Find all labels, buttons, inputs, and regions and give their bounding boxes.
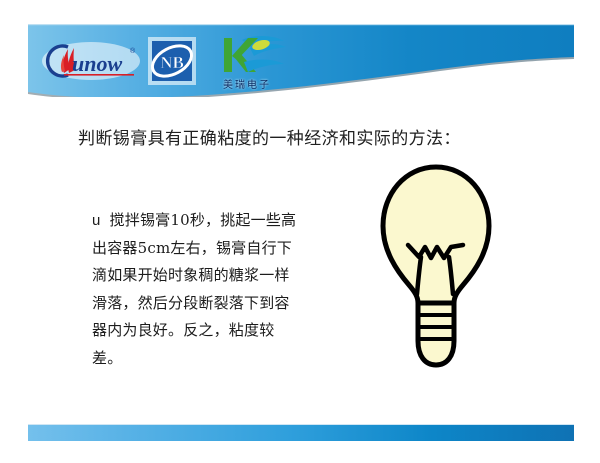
unow-logo: unow ® (42, 39, 140, 83)
unow-logo-graphic: unow ® (42, 39, 140, 83)
footer-bar (28, 424, 574, 441)
body-line: 出容器5cm左右，锡膏自行下 (92, 235, 344, 263)
body-line: 差。 (92, 345, 344, 373)
lightbulb-graphic (375, 163, 497, 381)
body-line: 器内为良好。反之，粘度较 (92, 317, 344, 345)
header-banner: unow ® NB (28, 24, 574, 97)
unow-wordmark: unow (72, 51, 122, 76)
nb-logo: NB (148, 37, 196, 85)
body-paragraph: u搅拌锡膏10秒，挑起一些高 出容器5cm左右，锡膏自行下 滴如果开始时象稠的糖… (92, 207, 344, 372)
body-line: 滑落，然后分段断裂落下到容 (92, 290, 344, 318)
meirui-logo-label: 美瑞电子 (204, 76, 290, 91)
meirui-logo-graphic (204, 32, 290, 78)
header-logo-row: unow ® NB (42, 28, 290, 94)
body-line-text: 搅拌锡膏10秒，挑起一些高 (110, 211, 297, 229)
bullet-marker: u (92, 212, 110, 229)
slide-canvas: unow ® NB (0, 0, 600, 463)
registered-mark-icon: ® (130, 47, 136, 55)
body-line: 滴如果开始时象稠的糖浆一样 (92, 262, 344, 290)
lightbulb-icon (375, 163, 497, 381)
meirui-logo: 美瑞电子 (204, 32, 290, 90)
nb-wordmark: NB (160, 53, 184, 72)
body-line: u搅拌锡膏10秒，挑起一些高 (92, 207, 344, 235)
nb-logo-graphic: NB (148, 37, 196, 85)
slide-title: 判断锡膏具有正确粘度的一种经济和实际的方法： (78, 124, 528, 149)
